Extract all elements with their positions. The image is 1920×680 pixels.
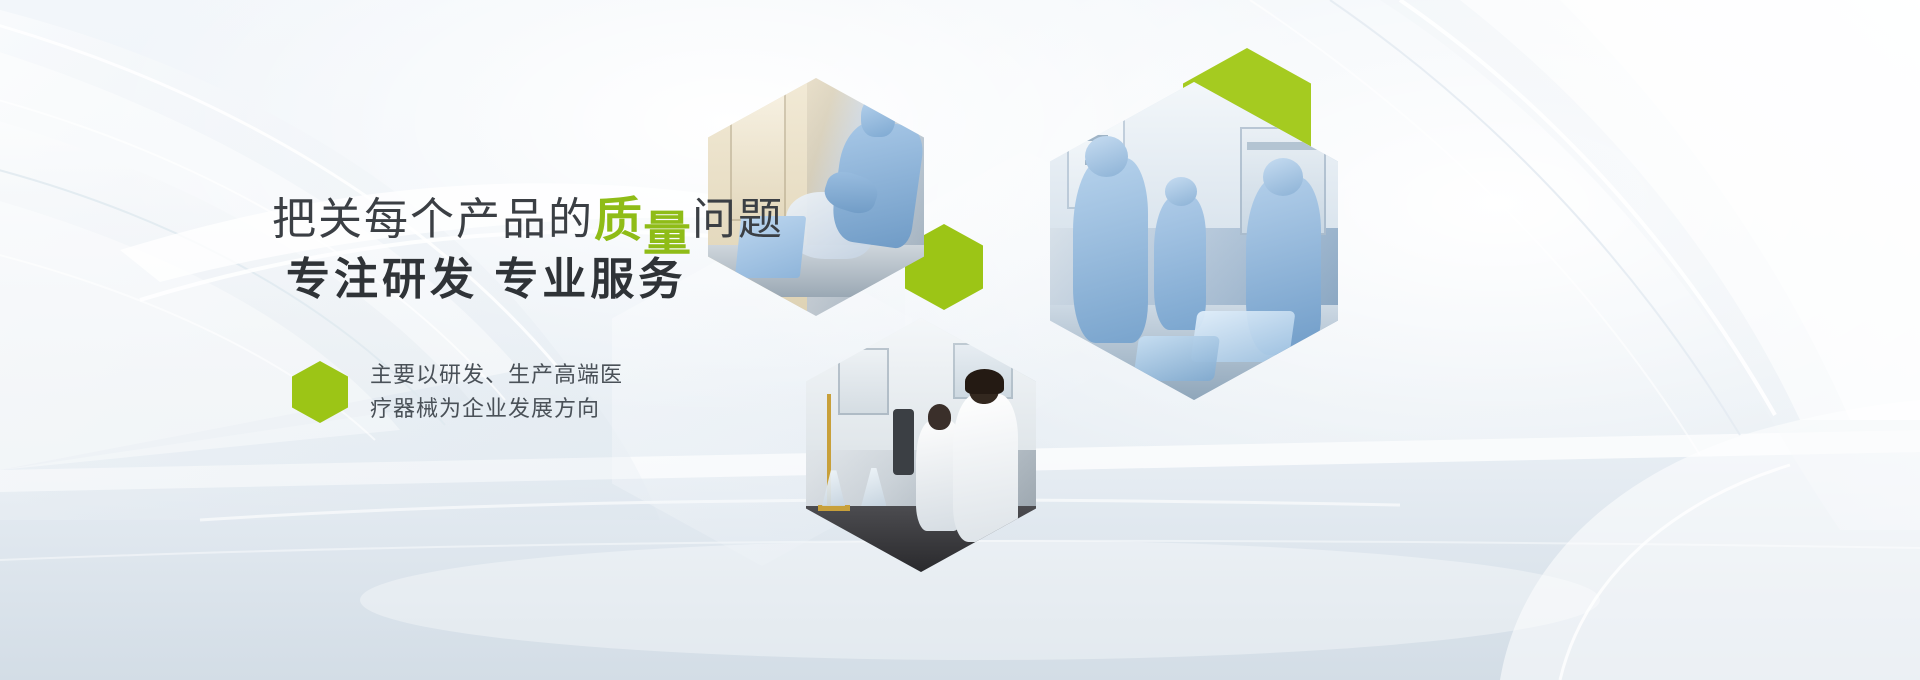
subtext-block: 主要以研发、生产高端医 疗器械为企业发展方向 (292, 358, 623, 426)
bullet-hexagon-icon (292, 361, 348, 423)
headline-primary-suffix: 问题 (692, 195, 784, 244)
headline-accent-group: 质量 (594, 191, 692, 251)
headline-primary-prefix: 把关每个产品的 (272, 195, 594, 244)
headline-primary: 把关每个产品的质量问题 (272, 190, 784, 251)
hero-banner: 把关每个产品的质量问题 专注研发 专业服务 主要以研发、生产高端医 疗器械为企业… (0, 0, 1920, 680)
subtext-description: 主要以研发、生产高端医 疗器械为企业发展方向 (370, 358, 623, 426)
headline-secondary: 专注研发 专业服务 (286, 250, 686, 310)
headline-accent-char-1: 质 (594, 194, 643, 247)
